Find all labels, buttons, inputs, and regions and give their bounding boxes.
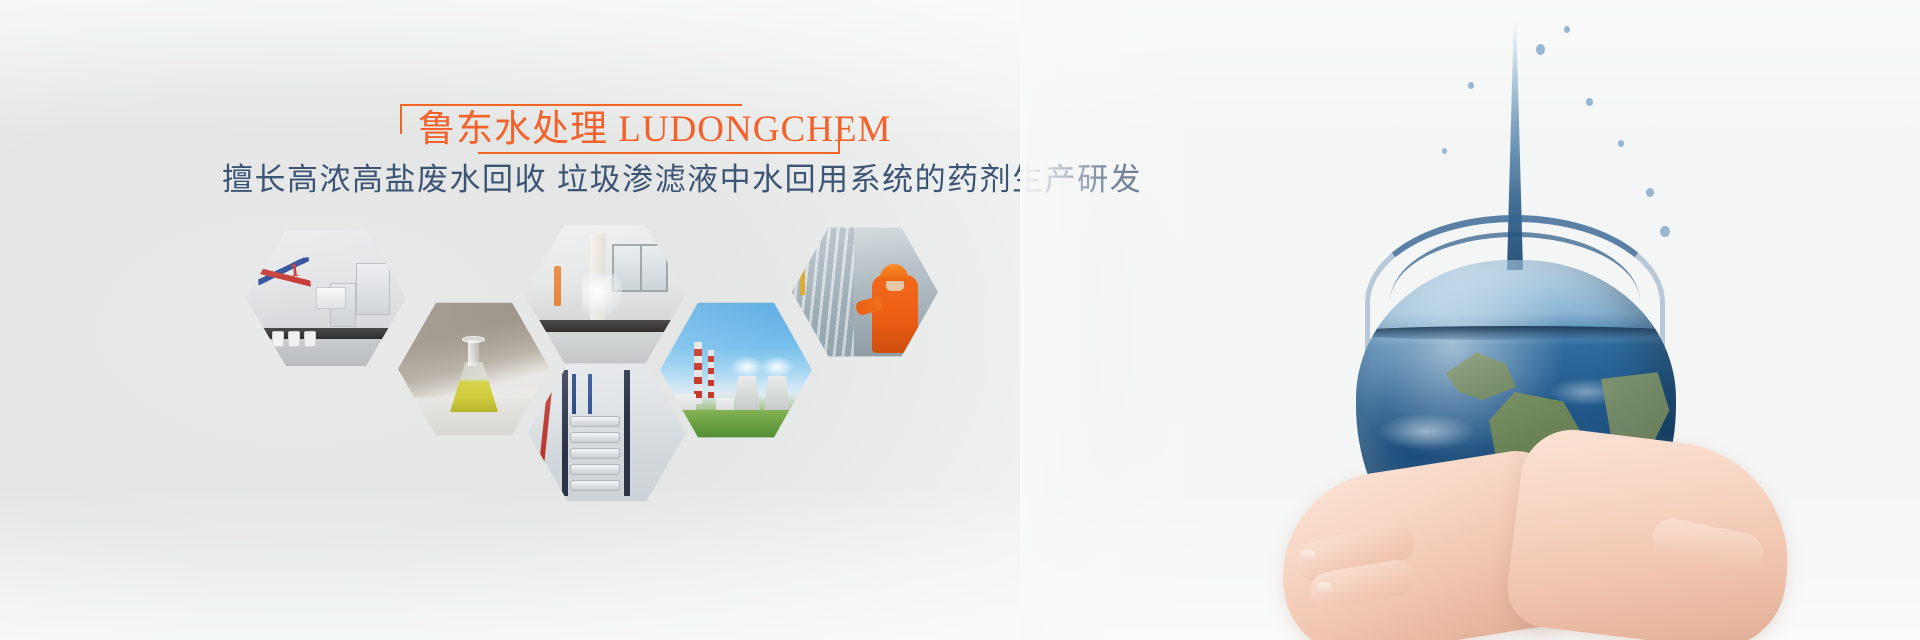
chimney-stack-b xyxy=(708,350,714,398)
flask-lip xyxy=(462,336,485,343)
photo-lab-glassware xyxy=(524,222,686,366)
water-droplet xyxy=(1646,188,1654,197)
lab-floor xyxy=(246,339,406,369)
photo-membrane-skid xyxy=(528,362,686,504)
blue-pipe-a xyxy=(572,374,576,414)
flask-neck xyxy=(468,340,479,366)
photo-conical-flask-image xyxy=(398,300,550,438)
cooling-tower-a xyxy=(734,376,760,410)
cooling-tower-b xyxy=(764,376,790,410)
lab-instrument-box xyxy=(316,287,346,309)
photo-field-engineer xyxy=(792,225,938,359)
skid-frame-right xyxy=(624,370,630,496)
photo-lab-glassware-image xyxy=(524,222,686,366)
photo-conical-flask xyxy=(398,300,550,438)
water-droplet xyxy=(1660,226,1670,237)
lab-bench xyxy=(524,320,686,332)
water-droplet xyxy=(1618,140,1624,147)
photo-power-plant xyxy=(660,300,812,440)
right-hand xyxy=(1503,424,1801,640)
lab-bench xyxy=(246,328,406,339)
photo-membrane-skid-image xyxy=(528,362,686,504)
photo-laboratory-room: 1 xyxy=(246,227,406,369)
worker-hard-hat xyxy=(880,264,908,281)
chemical-jug-a xyxy=(272,331,284,347)
photo-field-engineer-image xyxy=(792,225,938,359)
water-droplet xyxy=(1468,82,1474,89)
yellow-pipe xyxy=(800,235,805,295)
wall-slogan-graphic xyxy=(257,257,311,295)
membrane-vessel xyxy=(570,480,620,491)
retort-stand xyxy=(554,266,561,306)
blue-pipe-b xyxy=(588,374,592,414)
water-droplet xyxy=(1536,44,1545,55)
photo-power-plant-image xyxy=(660,300,812,440)
globe-waterline xyxy=(1356,326,1676,340)
water-droplet xyxy=(1586,98,1593,106)
lab-cabinet-a xyxy=(356,263,390,315)
hero-banner: 鲁东水处理 LUDONGCHEM 擅长高浓高盐废水回收 垃圾渗滤液中水回用系统的… xyxy=(0,0,1920,640)
lab-under-cabinet xyxy=(524,332,686,366)
fingernail xyxy=(1300,550,1316,562)
membrane-vessel xyxy=(570,432,620,443)
hexagon-photo-collage: 1 xyxy=(0,0,1050,640)
photo-laboratory-room-image: 1 xyxy=(246,227,406,369)
chemical-jug-c xyxy=(304,331,316,347)
water-droplet xyxy=(1564,26,1570,33)
glassware-cluster xyxy=(582,274,622,318)
water-droplet xyxy=(1442,148,1447,154)
cupped-hands xyxy=(1270,400,1790,640)
membrane-vessel xyxy=(570,448,620,459)
cooling-steam-b xyxy=(760,356,794,378)
flask-body xyxy=(450,362,498,412)
red-pipe xyxy=(536,382,552,492)
membrane-vessel xyxy=(570,416,620,427)
fingernail xyxy=(1316,582,1332,594)
cooling-steam-a xyxy=(730,356,764,378)
membrane-vessel xyxy=(570,464,620,475)
skid-frame-left xyxy=(562,370,568,496)
hands-holding-water-globe-artwork xyxy=(1020,0,1920,640)
chemical-jug-b xyxy=(288,331,300,347)
